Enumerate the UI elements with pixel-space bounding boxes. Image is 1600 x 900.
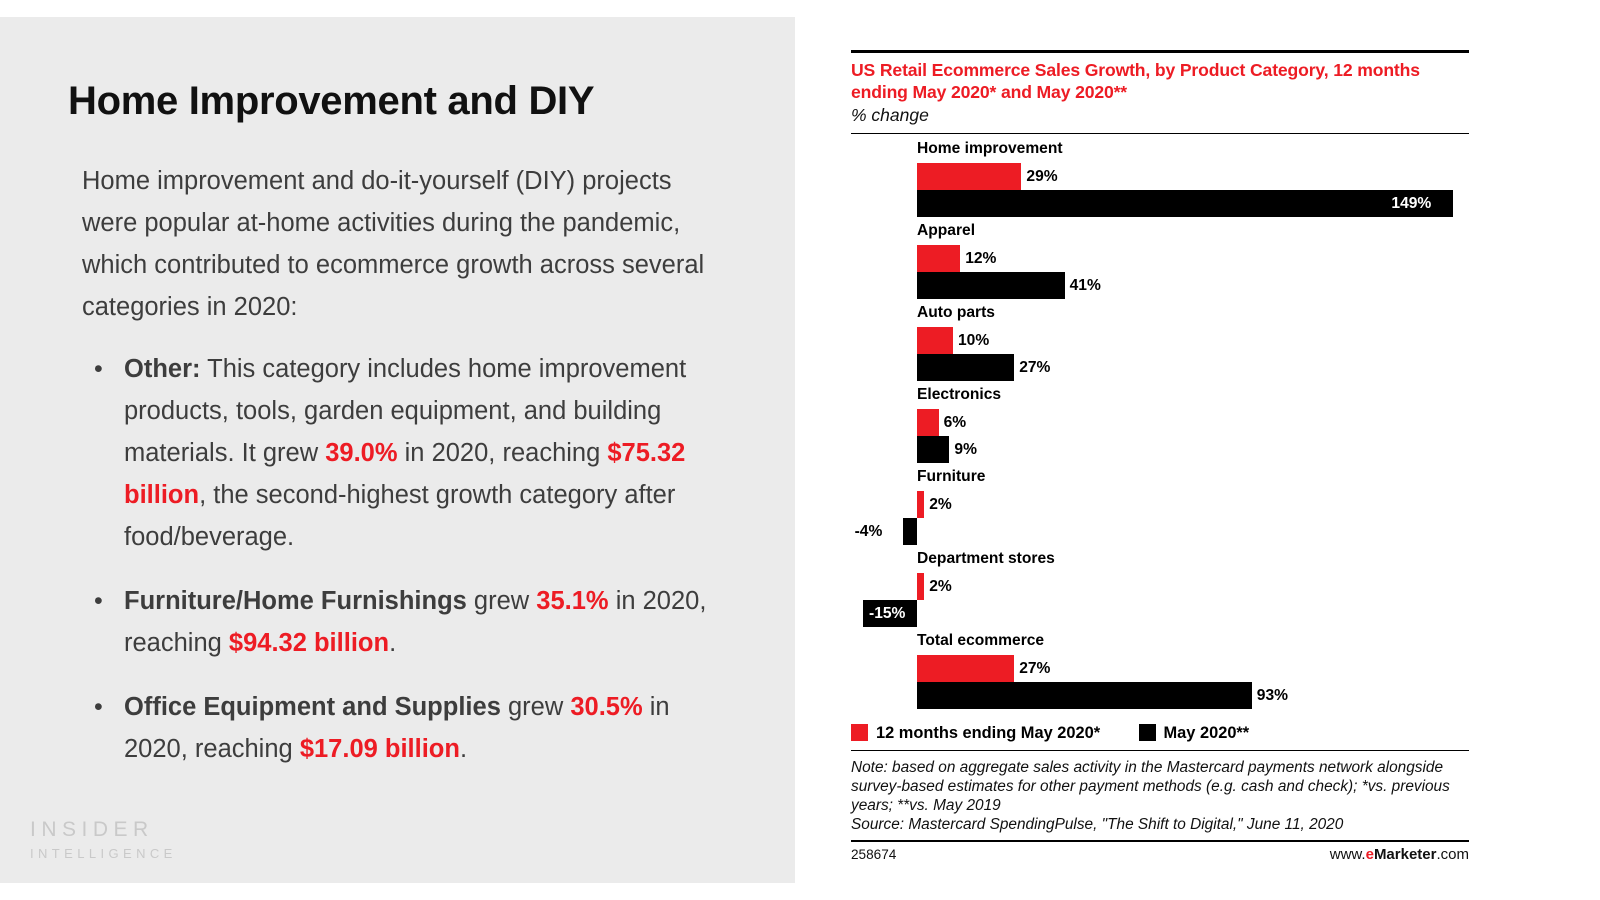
- page-title: Home Improvement and DIY: [68, 79, 735, 124]
- footer-rule: [851, 840, 1469, 842]
- bar-value-label: 10%: [958, 327, 989, 354]
- bar-value-label: 12%: [965, 245, 996, 272]
- category-label: Home improvement: [917, 140, 1063, 158]
- bullet-highlight: 39.0%: [325, 439, 397, 467]
- url-brand: Marketer: [1374, 846, 1437, 863]
- chart-title: US Retail Ecommerce Sales Growth, by Pro…: [851, 59, 1469, 103]
- legend-label-series-1: 12 months ending May 2020*: [876, 724, 1100, 742]
- bar-red: [917, 491, 924, 518]
- bar-red: [917, 409, 939, 436]
- bar-value-label: 6%: [944, 409, 967, 436]
- bar-red: [917, 573, 924, 600]
- left-content-panel: Home Improvement and DIY Home improvemen…: [0, 17, 795, 883]
- bar-value-label: 149%: [1391, 190, 1431, 217]
- bullet-text: grew: [467, 587, 536, 615]
- bar-black: [917, 682, 1252, 709]
- slide-root: Home Improvement and DIY Home improvemen…: [0, 0, 1600, 900]
- url-prefix: www.: [1330, 846, 1366, 863]
- bullet-lead: Office Equipment and Supplies: [124, 693, 501, 721]
- chart-id: 258674: [851, 847, 896, 862]
- bullet-lead: Furniture/Home Furnishings: [124, 587, 467, 615]
- bar-value-label: 27%: [1019, 354, 1050, 381]
- bar-value-label: 29%: [1026, 163, 1057, 190]
- chart-subtitle: % change: [851, 105, 1469, 126]
- category-label: Apparel: [917, 222, 975, 240]
- bar-red: [917, 163, 1021, 190]
- url-brand-e: e: [1366, 846, 1374, 863]
- list-item: Office Equipment and Supplies grew 30.5%…: [86, 686, 735, 770]
- chart-footer: 258674 www.eMarketer.com: [851, 846, 1469, 863]
- list-item: Other: This category includes home impro…: [86, 348, 735, 558]
- bullet-text: .: [389, 629, 396, 657]
- category-label: Department stores: [917, 550, 1055, 568]
- bullet-text: grew: [501, 693, 570, 721]
- bar-value-label: 93%: [1257, 682, 1288, 709]
- legend-label-series-2: May 2020**: [1164, 724, 1250, 742]
- category-label: Total ecommerce: [917, 632, 1044, 650]
- emarketer-url: www.eMarketer.com: [1330, 846, 1469, 863]
- legend-swatch-black: [1139, 724, 1156, 741]
- chart-legend: 12 months ending May 2020* May 2020**: [851, 724, 1469, 750]
- bar-red: [917, 655, 1014, 682]
- intro-paragraph: Home improvement and do-it-yourself (DIY…: [82, 160, 722, 328]
- bar-value-label: -4%: [855, 518, 883, 545]
- list-item: Furniture/Home Furnishings grew 35.1% in…: [86, 580, 735, 664]
- insider-intelligence-logo: INSIDER INTELLIGENCE: [30, 818, 177, 861]
- bar-value-label: 2%: [929, 573, 952, 600]
- logo-line-insider: INSIDER: [30, 818, 177, 842]
- chart-top-rule: [851, 50, 1469, 53]
- bullet-text: , the second-highest growth category aft…: [124, 481, 675, 551]
- logo-line-intelligence: INTELLIGENCE: [30, 846, 177, 861]
- bar-black: [917, 190, 1453, 217]
- bar-black: [917, 354, 1014, 381]
- bar-value-label: 2%: [929, 491, 952, 518]
- category-label: Furniture: [917, 468, 985, 486]
- note-top-rule: [851, 750, 1469, 751]
- bullet-text: in 2020, reaching: [398, 439, 608, 467]
- bullet-text: .: [460, 735, 467, 763]
- chart-container: US Retail Ecommerce Sales Growth, by Pro…: [851, 50, 1469, 863]
- url-suffix: .com: [1436, 846, 1469, 863]
- chart-note: Note: based on aggregate sales activity …: [851, 758, 1469, 834]
- bar-value-label: 41%: [1070, 272, 1101, 299]
- bar-black: [903, 518, 917, 545]
- bullet-highlight: $17.09 billion: [300, 735, 460, 763]
- bar-black: [917, 272, 1065, 299]
- chart-plot-area: Home improvement29%149%Apparel12%41%Auto…: [851, 140, 1469, 720]
- bar-value-label: -15%: [869, 600, 905, 627]
- legend-swatch-red: [851, 724, 868, 741]
- bar-value-label: 27%: [1019, 655, 1050, 682]
- bullet-list: Other: This category includes home impro…: [68, 348, 735, 770]
- bar-black: [917, 436, 949, 463]
- bullet-lead: Other:: [124, 355, 201, 383]
- chart-panel: US Retail Ecommerce Sales Growth, by Pro…: [795, 0, 1600, 900]
- bullet-highlight: 35.1%: [536, 587, 608, 615]
- chart-header-rule: [851, 133, 1469, 134]
- source-text: Source: Mastercard SpendingPulse, "The S…: [851, 816, 1343, 833]
- bar-red: [917, 245, 960, 272]
- category-label: Auto parts: [917, 304, 995, 322]
- category-label: Electronics: [917, 386, 1001, 404]
- bar-red: [917, 327, 953, 354]
- bullet-highlight: $94.32 billion: [229, 629, 389, 657]
- bar-value-label: 9%: [954, 436, 977, 463]
- bullet-highlight: 30.5%: [570, 693, 642, 721]
- note-text: Note: based on aggregate sales activity …: [851, 759, 1450, 814]
